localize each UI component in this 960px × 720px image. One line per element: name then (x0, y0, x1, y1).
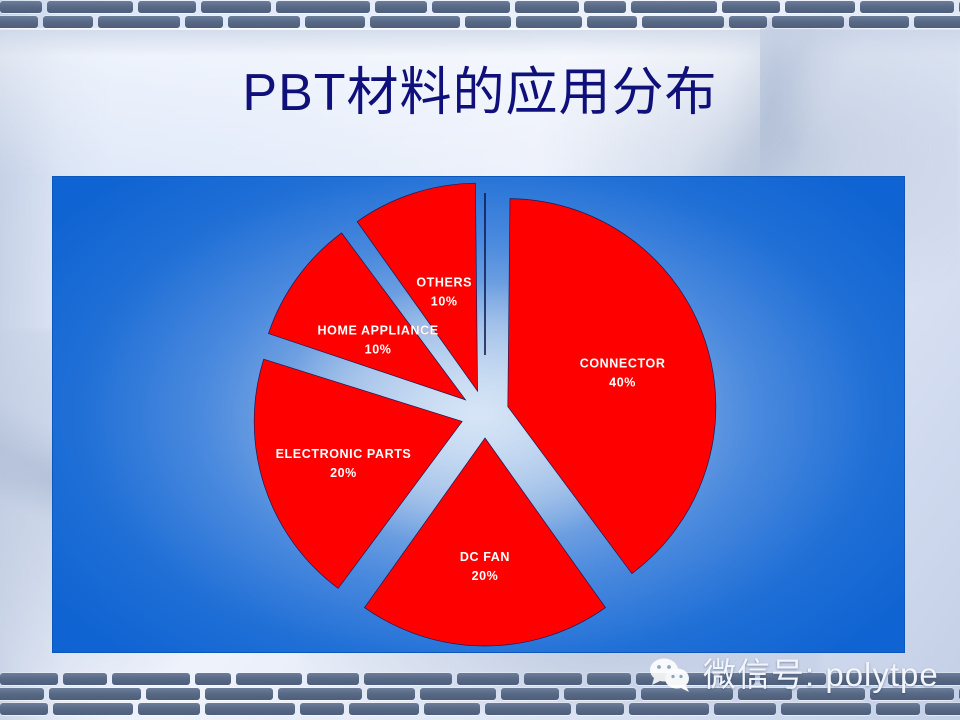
brick-border-top (0, 0, 960, 34)
brick-tile (98, 16, 180, 28)
brick-tile (729, 16, 767, 28)
brick-tile (236, 673, 302, 685)
brick-tile (420, 688, 496, 700)
brick-tile (364, 673, 452, 685)
pie-slice-value: 20% (472, 569, 499, 583)
wechat-id-text: 微信号: polytpe (703, 656, 939, 694)
brick-tile (305, 16, 365, 28)
brick-tile (631, 1, 717, 13)
pie-slice-label: HOME APPLIANCE (318, 323, 439, 337)
brick-tile (424, 703, 480, 715)
brick-tile (914, 16, 960, 28)
brick-tile (629, 703, 709, 715)
brick-tile (195, 673, 231, 685)
pie-slice-value: 10% (431, 294, 458, 308)
slide-canvas: PBT材料的应用分布 CONNECTOR40%DC FAN20%ELECTRON… (0, 0, 960, 720)
brick-tile (516, 16, 582, 28)
brick-tile (138, 703, 200, 715)
brick-tile (0, 1, 42, 13)
brick-tile (432, 1, 510, 13)
brick-tile (307, 673, 359, 685)
brick-tile (112, 673, 190, 685)
brick-tile (849, 16, 909, 28)
brick-tile (0, 16, 38, 28)
brick-tile (524, 673, 582, 685)
brick-tile (785, 1, 855, 13)
pie-slice-value: 40% (609, 375, 636, 389)
brick-tile (367, 688, 415, 700)
brick-tile (781, 703, 871, 715)
brick-tile (465, 16, 511, 28)
brick-tile (63, 673, 107, 685)
brick-tile (515, 1, 579, 13)
brick-tile (278, 688, 362, 700)
brick-tile (300, 703, 344, 715)
brick-tile (47, 1, 133, 13)
brick-tile (587, 16, 637, 28)
wechat-logo-icon (648, 656, 694, 694)
brick-tile (576, 703, 624, 715)
brick-tile (185, 16, 223, 28)
brick-tile (370, 16, 460, 28)
brick-tile (349, 703, 419, 715)
pie-chart-svg: CONNECTOR40%DC FAN20%ELECTRONIC PARTS20%… (53, 177, 905, 653)
brick-tile (722, 1, 780, 13)
brick-tile (876, 703, 920, 715)
brick-tile (49, 688, 141, 700)
brick-tile (43, 16, 93, 28)
brick-tile (201, 1, 271, 13)
brick-tile (276, 1, 370, 13)
brick-tile (925, 703, 960, 715)
brick-tile (138, 1, 196, 13)
brick-tile (146, 688, 200, 700)
brick-tile (501, 688, 559, 700)
pie-slice-value: 10% (365, 342, 392, 356)
pie-slice-label: OTHERS (416, 275, 472, 289)
brick-tile (0, 688, 44, 700)
pie-chart: CONNECTOR40%DC FAN20%ELECTRONIC PARTS20%… (53, 177, 905, 653)
brick-tile (860, 1, 954, 13)
brick-tile (564, 688, 636, 700)
pie-slice-value: 20% (330, 466, 357, 480)
brick-tile (714, 703, 776, 715)
brick-border-top-fade (0, 30, 960, 56)
brick-tile (0, 673, 58, 685)
chart-panel: CONNECTOR40%DC FAN20%ELECTRONIC PARTS20%… (52, 176, 905, 653)
brick-tile (53, 703, 133, 715)
page-title: PBT材料的应用分布 (0, 62, 960, 124)
pie-slice-label: DC FAN (460, 550, 510, 564)
brick-tile (457, 673, 519, 685)
brick-tile (772, 16, 844, 28)
pie-slice-label: CONNECTOR (580, 356, 666, 370)
brick-tile (205, 703, 295, 715)
brick-tile (0, 703, 48, 715)
brick-tile (205, 688, 273, 700)
brick-tile (228, 16, 300, 28)
brick-tile (375, 1, 427, 13)
brick-tile (485, 703, 571, 715)
pie-slice-label: ELECTRONIC PARTS (276, 447, 412, 461)
brick-tile (584, 1, 626, 13)
brick-tile (642, 16, 724, 28)
wechat-watermark: 微信号: polytpe (648, 650, 939, 700)
brick-tile (587, 673, 631, 685)
